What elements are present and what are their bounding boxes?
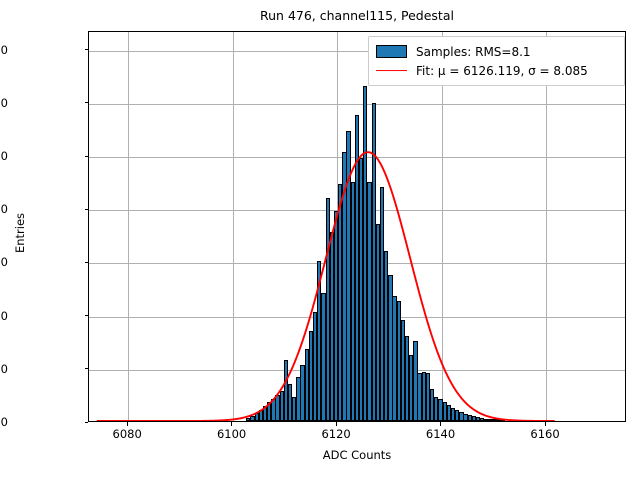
- legend[interactable]: Samples: RMS=8.1 Fit: μ = 6126.119, σ = …: [368, 36, 625, 86]
- x-tick-mark: [127, 422, 128, 426]
- y-tick-mark: [85, 49, 89, 50]
- y-tick-label: 50000: [0, 149, 8, 163]
- figure-canvas: Run 476, channel115, Pedestal 0100002000…: [0, 0, 640, 480]
- histogram-bars: [89, 32, 625, 421]
- legend-label-samples: Samples: RMS=8.1: [416, 45, 531, 59]
- y-tick-mark: [85, 368, 89, 369]
- y-tick-mark: [85, 422, 89, 423]
- x-axis-label: ADC Counts: [88, 448, 626, 462]
- y-tick-mark: [85, 315, 89, 316]
- legend-label-fit: Fit: μ = 6126.119, σ = 8.085: [416, 64, 588, 78]
- legend-item-samples[interactable]: Samples: RMS=8.1: [376, 42, 616, 61]
- y-tick-mark: [85, 156, 89, 157]
- page-title: Run 476, channel115, Pedestal: [88, 8, 626, 23]
- legend-patch-icon: [376, 45, 407, 58]
- x-tick-mark: [231, 422, 232, 426]
- plot-area: [88, 31, 626, 422]
- y-tick-mark: [85, 209, 89, 210]
- y-tick-label: 0: [0, 415, 8, 429]
- y-tick-label: 70000: [0, 43, 8, 57]
- legend-line-icon: [376, 64, 407, 77]
- x-tick-label: 6140: [426, 427, 455, 441]
- x-tick-mark: [336, 422, 337, 426]
- x-tick-label: 6160: [530, 427, 559, 441]
- y-tick-label: 10000: [0, 362, 8, 376]
- x-tick-mark: [440, 422, 441, 426]
- y-tick-label: 60000: [0, 96, 8, 110]
- x-tick-label: 6080: [113, 427, 142, 441]
- x-tick-label: 6120: [321, 427, 350, 441]
- y-tick-label: 30000: [0, 255, 8, 269]
- x-tick-mark: [545, 422, 546, 426]
- y-tick-label: 20000: [0, 309, 8, 323]
- y-tick-label: 40000: [0, 202, 8, 216]
- x-tick-label: 6100: [217, 427, 246, 441]
- y-tick-mark: [85, 102, 89, 103]
- histogram-bar: [501, 419, 505, 421]
- legend-item-fit[interactable]: Fit: μ = 6126.119, σ = 8.085: [376, 61, 616, 80]
- y-axis-label: Entries: [13, 133, 27, 333]
- y-tick-mark: [85, 262, 89, 263]
